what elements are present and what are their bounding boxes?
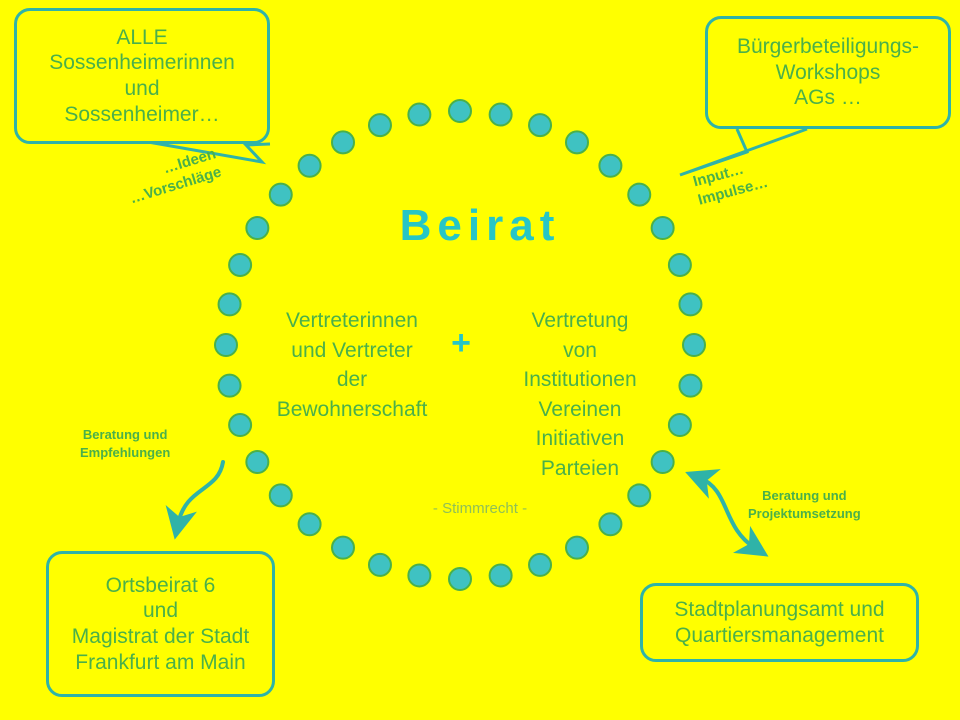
column-right-line: Vertretung [490,306,670,336]
callout-line: und [17,76,267,102]
callout-line: Ortsbeirat 6 [49,573,272,599]
annotation-beratung-empfehlungen: Beratung und Empfehlungen [80,426,170,461]
callout-line: Magistrat der Stadt [49,624,272,650]
callout-line: Sossenheimer… [17,102,267,128]
column-right-line: Initiativen [490,424,670,454]
callout-line: Bürgerbeteiligungs- [708,34,948,60]
callout-stadtplanungsamt: Stadtplanungsamt und Quartiersmanagement [640,583,919,662]
callout-ortsbeirat-magistrat: Ortsbeirat 6 und Magistrat der Stadt Fra… [46,551,275,697]
column-right-line: von [490,336,670,366]
annotation-line: Projektumsetzung [748,505,861,523]
callout-line: AGs … [708,85,948,111]
page-title: Beirat [0,201,960,251]
column-left-line: Bewohnerschaft [262,395,442,425]
column-right-line: Institutionen [490,365,670,395]
column-right-line: Vereinen [490,395,670,425]
column-bewohnerschaft: Vertreterinnen und Vertreter der Bewohne… [262,306,442,424]
callout-buergerbeteiligung: Bürgerbeteiligungs- Workshops AGs … [705,16,951,129]
annotation-beratung-projektumsetzung: Beratung und Projektumsetzung [748,487,861,522]
callout-line: Sossenheimerinnen [17,50,267,76]
column-left-line: und Vertreter [262,336,442,366]
annotation-line: Beratung und [80,426,170,444]
callout-line: Quartiersmanagement [643,623,916,649]
column-institutionen: Vertretung von Institutionen Vereinen In… [490,306,670,484]
column-left-line: Vertreterinnen [262,306,442,336]
callout-line: Workshops [708,60,948,86]
column-right-line: Parteien [490,454,670,484]
annotation-line: Empfehlungen [80,444,170,462]
callout-line: Stadtplanungsamt und [643,597,916,623]
annotation-line: Beratung und [748,487,861,505]
column-left-line: der [262,365,442,395]
callout-alle-sossenheimer: ALLE Sossenheimerinnen und Sossenheimer… [14,8,270,144]
callout-line: ALLE [17,25,267,51]
callout-line: Frankfurt am Main [49,650,272,676]
diagram-canvas: Beirat Vertreterinnen und Vertreter der … [0,0,960,720]
callout-line: und [49,598,272,624]
plus-icon: + [443,325,479,361]
